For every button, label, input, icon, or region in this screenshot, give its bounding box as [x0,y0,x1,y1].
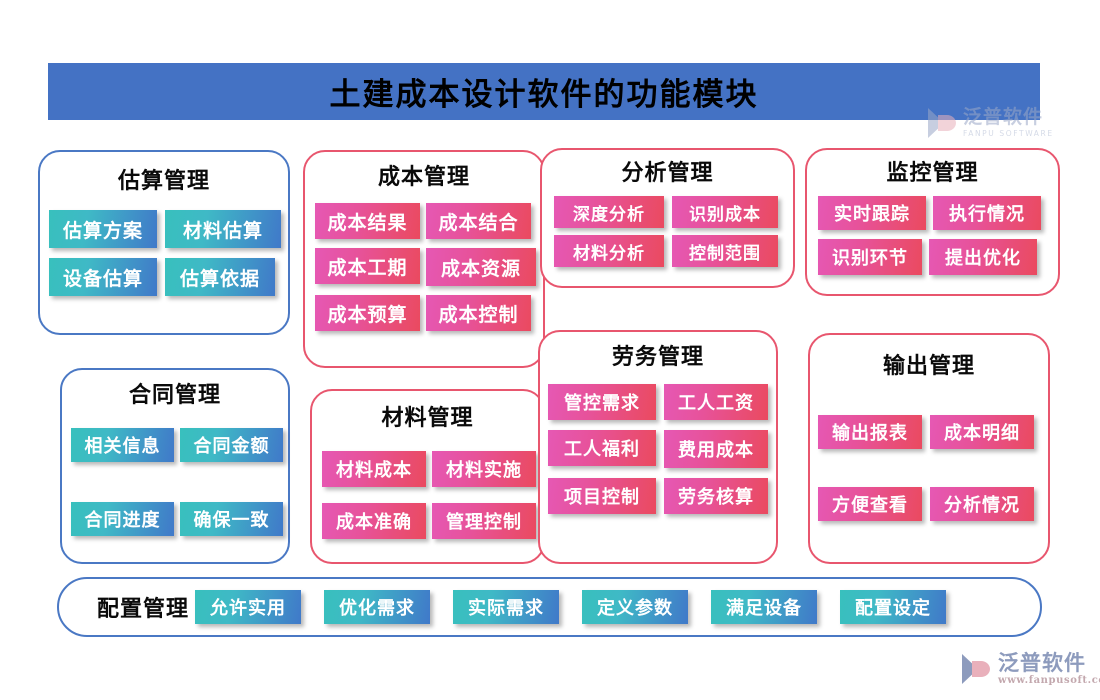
panel-estimate: 估算管理 估算方案 材料估算 设备估算 估算依据 [38,150,290,335]
chip-monitor-0[interactable]: 实时跟踪 [818,196,926,230]
chip-material-0[interactable]: 材料成本 [322,451,426,487]
chip-config-5[interactable]: 配置设定 [840,590,946,624]
brand-name-en: FANPU SOFTWARE [963,130,1054,138]
panel-cost: 成本管理 成本结果 成本结合 成本工期 成本资源 成本预算 成本控制 [303,150,545,368]
chip-analysis-1[interactable]: 识别成本 [672,196,778,228]
chip-grid-material: 材料成本 材料实施 成本准确 管理控制 [322,451,542,539]
chip-labor-0[interactable]: 管控需求 [548,384,656,420]
chip-grid-estimate: 估算方案 材料估算 设备估算 估算依据 [49,210,285,296]
chip-cost-2[interactable]: 成本工期 [315,248,420,284]
chip-cost-5[interactable]: 成本控制 [426,295,531,331]
chip-cost-1[interactable]: 成本结合 [426,203,531,239]
page-title: 土建成本设计软件的功能模块 [330,69,759,114]
panel-contract: 合同管理 相关信息 合同金额 合同进度 确保一致 [60,368,290,564]
chip-labor-3[interactable]: 费用成本 [664,430,768,468]
chip-monitor-2[interactable]: 识别环节 [818,239,922,275]
chip-config-2[interactable]: 实际需求 [453,590,559,624]
panel-monitor: 监控管理 实时跟踪 执行情况 识别环节 提出优化 [805,148,1060,296]
chip-cost-0[interactable]: 成本结果 [315,203,420,239]
chip-contract-0[interactable]: 相关信息 [71,428,174,462]
config-chip-list: 允许实用 优化需求 实际需求 定义参数 满足设备 配置设定 [195,590,946,624]
fanpu-logo-icon [962,654,992,684]
chip-analysis-3[interactable]: 控制范围 [672,235,778,267]
chip-estimate-2[interactable]: 设备估算 [49,258,157,296]
chip-material-3[interactable]: 管理控制 [432,503,536,539]
panel-title-analysis: 分析管理 [542,162,793,184]
chip-output-1[interactable]: 成本明细 [930,415,1034,449]
config-bar: 配置管理 允许实用 优化需求 实际需求 定义参数 满足设备 配置设定 [57,577,1042,637]
chip-material-2[interactable]: 成本准确 [322,503,426,539]
panel-title-estimate: 估算管理 [40,170,288,192]
panel-title-output: 输出管理 [810,355,1048,377]
chip-estimate-3[interactable]: 估算依据 [165,258,275,296]
chip-output-3[interactable]: 分析情况 [930,487,1034,521]
chip-estimate-0[interactable]: 估算方案 [49,210,157,248]
chip-labor-2[interactable]: 工人福利 [548,430,656,466]
chip-cost-3[interactable]: 成本资源 [426,248,536,286]
config-bar-title: 配置管理 [97,591,189,623]
chip-output-0[interactable]: 输出报表 [818,415,922,449]
chip-analysis-0[interactable]: 深度分析 [554,196,664,228]
chip-contract-2[interactable]: 合同进度 [71,502,174,536]
chip-material-1[interactable]: 材料实施 [432,451,536,487]
chip-config-0[interactable]: 允许实用 [195,590,301,624]
panel-title-material: 材料管理 [312,407,543,429]
panel-title-contract: 合同管理 [62,384,288,406]
chip-contract-1[interactable]: 合同金额 [180,428,283,462]
chip-cost-4[interactable]: 成本预算 [315,295,420,331]
panel-title-cost: 成本管理 [305,166,543,188]
chip-config-1[interactable]: 优化需求 [324,590,430,624]
chip-output-2[interactable]: 方便查看 [818,487,922,521]
brand-name-cn: 泛普软件 [998,653,1100,674]
slide-canvas: 土建成本设计软件的功能模块 泛普软件 FANPU SOFTWARE 估算管理 估… [0,0,1100,700]
chip-labor-1[interactable]: 工人工资 [664,384,768,420]
chip-monitor-1[interactable]: 执行情况 [933,196,1041,230]
chip-analysis-2[interactable]: 材料分析 [554,235,664,267]
panel-material: 材料管理 材料成本 材料实施 成本准确 管理控制 [310,389,545,564]
panel-title-monitor: 监控管理 [807,162,1058,184]
chip-grid-cost: 成本结果 成本结合 成本工期 成本资源 成本预算 成本控制 [315,203,539,331]
chip-labor-4[interactable]: 项目控制 [548,478,656,514]
page-title-banner: 土建成本设计软件的功能模块 [48,63,1040,120]
chip-grid-contract: 相关信息 合同金额 合同进度 确保一致 [71,428,287,536]
panel-title-labor: 劳务管理 [540,346,776,368]
chip-grid-analysis: 深度分析 识别成本 材料分析 控制范围 [554,196,786,267]
chip-contract-3[interactable]: 确保一致 [180,502,283,536]
chip-config-3[interactable]: 定义参数 [582,590,688,624]
chip-labor-5[interactable]: 劳务核算 [664,478,768,514]
panel-labor: 劳务管理 管控需求 工人工资 工人福利 费用成本 项目控制 劳务核算 [538,330,778,564]
chip-monitor-3[interactable]: 提出优化 [929,239,1037,275]
brand-logo-bottom: 泛普软件 www.fanpusoft.com [962,646,1100,692]
brand-name-cn: 泛普软件 [963,108,1054,127]
chip-grid-labor: 管控需求 工人工资 工人福利 费用成本 项目控制 劳务核算 [548,384,780,514]
brand-website: www.fanpusoft.com [998,676,1100,686]
panel-analysis: 分析管理 深度分析 识别成本 材料分析 控制范围 [540,148,795,288]
brand-logo-top: 泛普软件 FANPU SOFTWARE [928,104,1078,142]
chip-estimate-1[interactable]: 材料估算 [165,210,281,248]
panel-output: 输出管理 输出报表 成本明细 方便查看 分析情况 [808,333,1050,564]
chip-grid-output: 输出报表 成本明细 方便查看 分析情况 [818,415,1046,521]
fanpu-logo-icon [928,108,958,138]
chip-config-4[interactable]: 满足设备 [711,590,817,624]
chip-grid-monitor: 实时跟踪 执行情况 识别环节 提出优化 [818,196,1054,275]
